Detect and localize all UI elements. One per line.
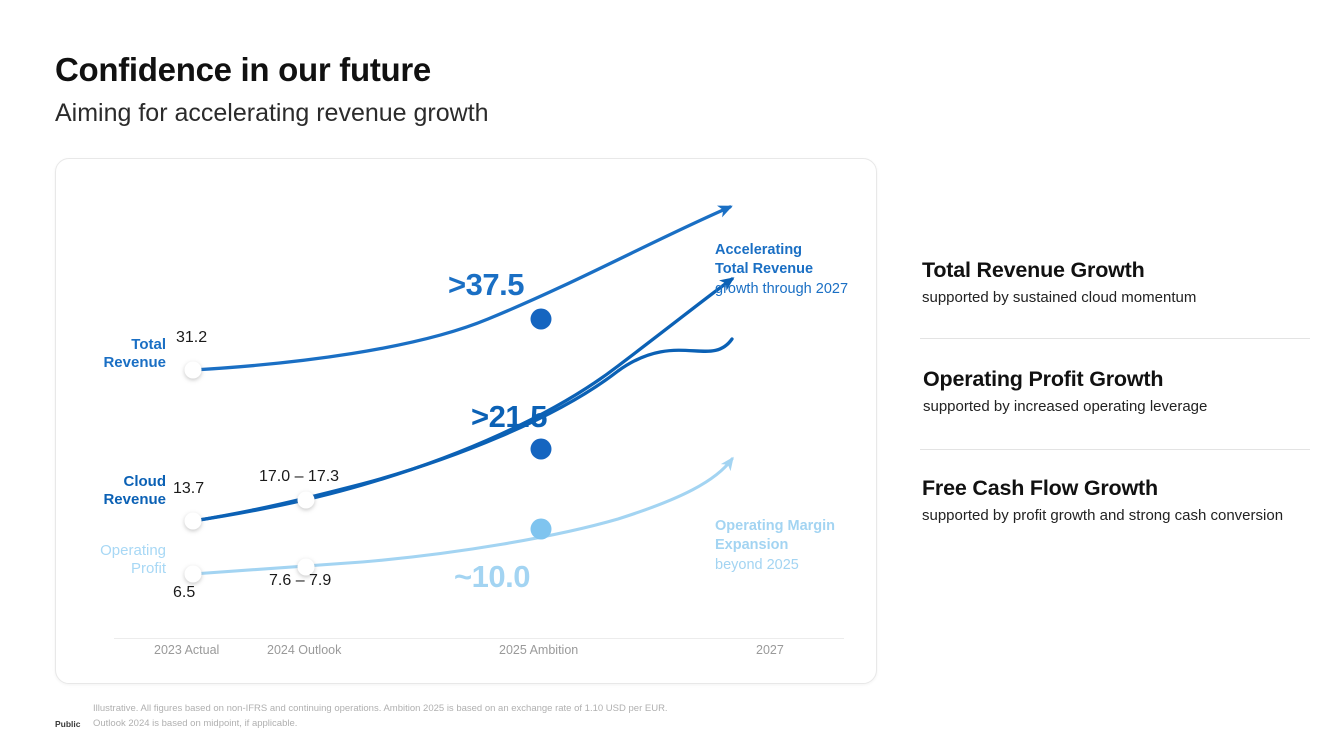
cloud-revenue-curve-main — [193, 310, 734, 521]
series-label-cloud-revenue-line1: Cloud — [124, 473, 167, 490]
annotation-accelerating-total-revenue: Accelerating Total Revenue growth throug… — [715, 241, 848, 299]
footnote-text: Illustrative. All figures based on non-I… — [93, 702, 668, 731]
growth-driver-free-cash-flow: Free Cash Flow Growth supported by profi… — [922, 476, 1310, 525]
data-label-total-revenue-2023: 31.2 — [176, 329, 207, 347]
annotation-revenue-line2: Total Revenue — [715, 260, 848, 279]
annotation-operating-margin-expansion: Operating Margin Expansion beyond 2025 — [715, 517, 835, 575]
data-label-cloud-revenue-2024: 17.0 – 17.3 — [259, 468, 339, 486]
growth-driver-title: Total Revenue Growth — [922, 258, 1310, 283]
panel-divider — [920, 338, 1310, 339]
growth-driver-subtitle: supported by increased operating leverag… — [923, 397, 1310, 417]
series-label-total-revenue: Total Revenue — [36, 336, 166, 373]
footnote: Public Illustrative. All figures based o… — [55, 702, 895, 731]
chart-card: Total Revenue Cloud Revenue Operating Pr… — [55, 158, 877, 684]
series-label-operating-profit-line1: Operating — [100, 542, 166, 559]
growth-drivers-panel: Total Revenue Growth supported by sustai… — [920, 258, 1310, 526]
cloud-revenue-ambition-dot — [531, 439, 552, 460]
operating-profit-start-dot — [185, 566, 202, 583]
x-axis-line — [114, 638, 844, 639]
series-label-cloud-revenue-line2: Revenue — [103, 491, 166, 508]
x-axis: 2023 Actual 2024 Outlook 2025 Ambition 2… — [56, 643, 878, 667]
annotation-margin-line2: Expansion — [715, 536, 835, 555]
growth-driver-total-revenue: Total Revenue Growth supported by sustai… — [922, 258, 1310, 307]
x-axis-tick-2027: 2027 — [756, 643, 784, 657]
cloud-revenue-outlook-dot — [298, 492, 315, 509]
confidentiality-tag: Public — [55, 718, 93, 731]
annotation-margin-line1: Operating Margin — [715, 517, 835, 536]
growth-driver-subtitle: supported by sustained cloud momentum — [922, 288, 1310, 308]
x-axis-tick-2024-outlook: 2024 Outlook — [267, 643, 341, 657]
page-header: Confidence in our future Aiming for acce… — [55, 52, 489, 128]
footnote-line-1: Illustrative. All figures based on non-I… — [93, 702, 668, 717]
annotation-revenue-line3: growth through 2027 — [715, 280, 848, 299]
data-label-operating-profit-2024: 7.6 – 7.9 — [269, 572, 331, 590]
ambition-label-cloud-revenue: >21.5 — [471, 399, 547, 435]
page-title: Confidence in our future — [55, 52, 489, 88]
cloud-revenue-curve — [193, 339, 732, 521]
series-label-operating-profit: Operating Profit — [36, 542, 166, 579]
cloud-revenue-start-dot — [185, 513, 202, 530]
series-label-total-revenue-line1: Total — [131, 336, 166, 353]
ambition-label-total-revenue: >37.5 — [448, 267, 524, 303]
growth-driver-subtitle: supported by profit growth and strong ca… — [922, 506, 1310, 526]
series-label-total-revenue-line2: Revenue — [103, 354, 166, 371]
chart-plot-area: Total Revenue Cloud Revenue Operating Pr… — [56, 159, 878, 685]
data-label-operating-profit-2023: 6.5 — [173, 584, 195, 602]
panel-divider — [920, 449, 1310, 450]
growth-driver-operating-profit: Operating Profit Growth supported by inc… — [923, 367, 1310, 416]
x-axis-tick-2023-actual: 2023 Actual — [154, 643, 219, 657]
page-subtitle: Aiming for accelerating revenue growth — [55, 98, 489, 128]
ambition-label-operating-profit: ~10.0 — [454, 559, 530, 595]
footnote-line-2: Outlook 2024 is based on midpoint, if ap… — [93, 717, 668, 732]
operating-profit-ambition-dot — [531, 519, 552, 540]
series-label-operating-profit-line2: Profit — [131, 560, 166, 577]
data-label-cloud-revenue-2023: 13.7 — [173, 480, 204, 498]
x-axis-tick-2025-ambition: 2025 Ambition — [499, 643, 578, 657]
annotation-margin-line3: beyond 2025 — [715, 556, 835, 575]
series-label-cloud-revenue: Cloud Revenue — [36, 473, 166, 510]
total-revenue-ambition-dot — [531, 309, 552, 330]
growth-driver-title: Free Cash Flow Growth — [922, 476, 1310, 501]
total-revenue-start-dot — [185, 362, 202, 379]
growth-driver-title: Operating Profit Growth — [923, 367, 1310, 392]
growth-lines-svg — [56, 159, 878, 685]
annotation-revenue-line1: Accelerating — [715, 241, 848, 260]
